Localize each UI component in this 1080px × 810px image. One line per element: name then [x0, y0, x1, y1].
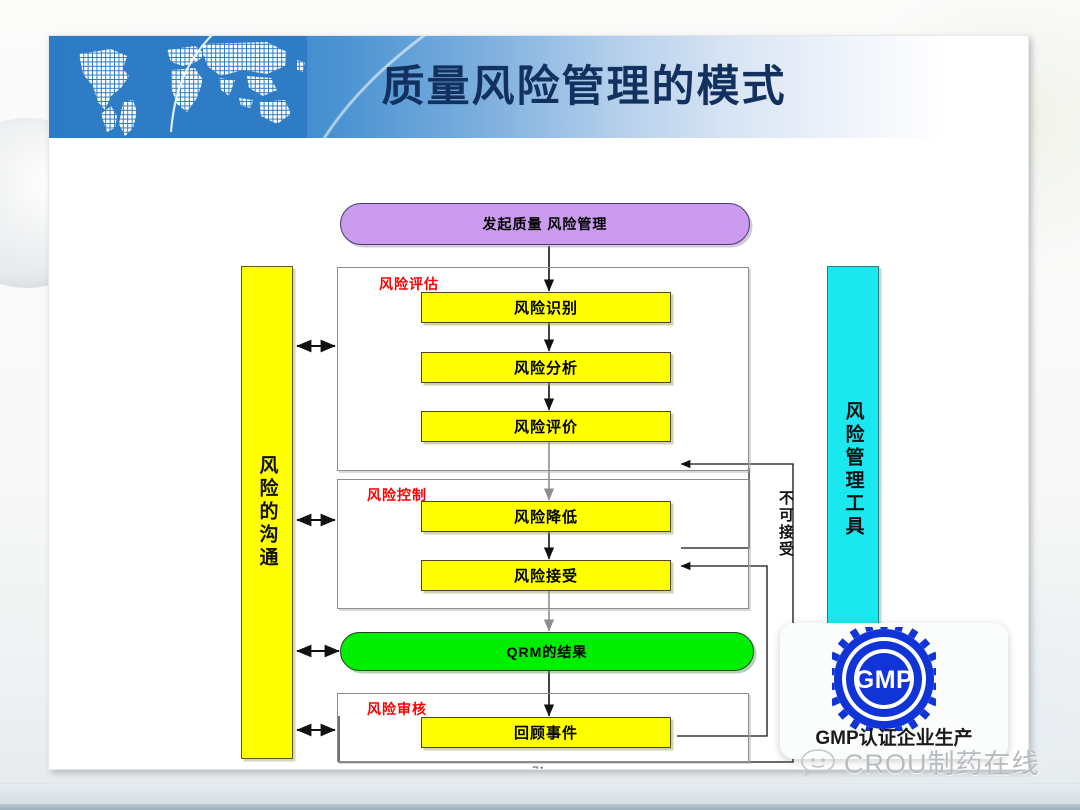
risk-management-tools-bar: 风险管理工具 — [827, 266, 879, 673]
node-risk-identification[interactable]: 风险识别 — [421, 292, 671, 323]
group-label-risk-control: 风险控制 — [367, 485, 427, 505]
node-review-events[interactable]: 回顾事件 — [421, 717, 671, 748]
node-qrm-result[interactable]: QRM的结果 — [340, 632, 754, 671]
window-bottom-strip — [0, 783, 1080, 810]
node-risk-reduction[interactable]: 风险降低 — [421, 501, 671, 532]
group-label-risk-review: 风险审核 — [367, 699, 427, 719]
slide-banner: 质量风险管理的模式 — [49, 36, 1028, 138]
chat-smiley-icon — [800, 747, 836, 777]
risk-management-tools-label: 风险管理工具 — [840, 401, 867, 539]
node-risk-acceptance[interactable]: 风险接受 — [421, 560, 671, 591]
site-watermark: CROU制药在线 — [800, 742, 1040, 781]
risk-communication-label: 风险的沟通 — [254, 455, 281, 570]
site-watermark-text: CROU制药在线 — [844, 742, 1040, 781]
risk-communication-bar: 风险的沟通 — [241, 266, 293, 759]
node-risk-analysis[interactable]: 风险分析 — [421, 352, 671, 383]
group-label-risk-assessment: 风险评估 — [379, 274, 439, 294]
gmp-certification-badge: GMP GMP认证企业生产 — [780, 623, 1008, 759]
node-initiate-qrm[interactable]: 发起质量 风险管理 — [340, 203, 750, 245]
page-title: 质量风险管理的模式 — [304, 52, 864, 114]
screenshot-root: 质量风险管理的模式 — [0, 0, 1080, 810]
gmp-seal-text: GMP — [855, 666, 913, 694]
gmp-seal-icon: GMP — [832, 627, 936, 731]
node-risk-evaluation[interactable]: 风险评价 — [421, 411, 671, 442]
feedback-label-unacceptable: 不可接受 — [775, 490, 796, 558]
